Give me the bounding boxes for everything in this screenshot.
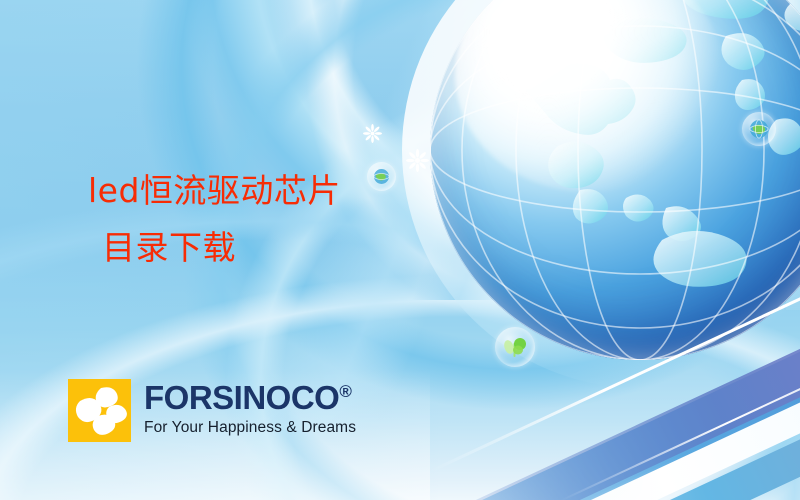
logo-wordmark-text: FORSINOCO <box>144 379 339 416</box>
logo-wordmark: FORSINOCO® <box>144 381 356 414</box>
brand-logo: FORSINOCO® For Your Happiness & Dreams <box>68 379 356 442</box>
logo-mark-tile <box>68 379 131 442</box>
bubble-green-sprout <box>495 327 535 367</box>
bubble-globe-top-right <box>742 112 776 146</box>
four-petal-pinwheel-icon <box>68 379 131 442</box>
headline: led恒流驱动芯片 目录下载 <box>88 163 341 277</box>
logo-text-block: FORSINOCO® For Your Happiness & Dreams <box>144 379 356 437</box>
bubble-globe-small <box>367 162 396 191</box>
headline-line-2: 目录下载 <box>88 220 341 277</box>
logo-tagline: For Your Happiness & Dreams <box>144 419 356 437</box>
green-sprout-icon <box>495 327 535 367</box>
mini-globe-icon <box>742 112 776 146</box>
registered-mark: ® <box>339 382 351 401</box>
mini-globe-small-icon <box>367 162 396 191</box>
promo-banner: led恒流驱动芯片 目录下载 FORSINOCO® For Your Happi… <box>0 0 800 500</box>
sparkle-flower-upper-icon <box>363 124 382 143</box>
headline-line-1: led恒流驱动芯片 <box>88 163 341 220</box>
globe-sphere <box>430 0 800 360</box>
earth-globe <box>430 0 800 360</box>
sparkle-flower-lower-icon <box>406 149 429 172</box>
